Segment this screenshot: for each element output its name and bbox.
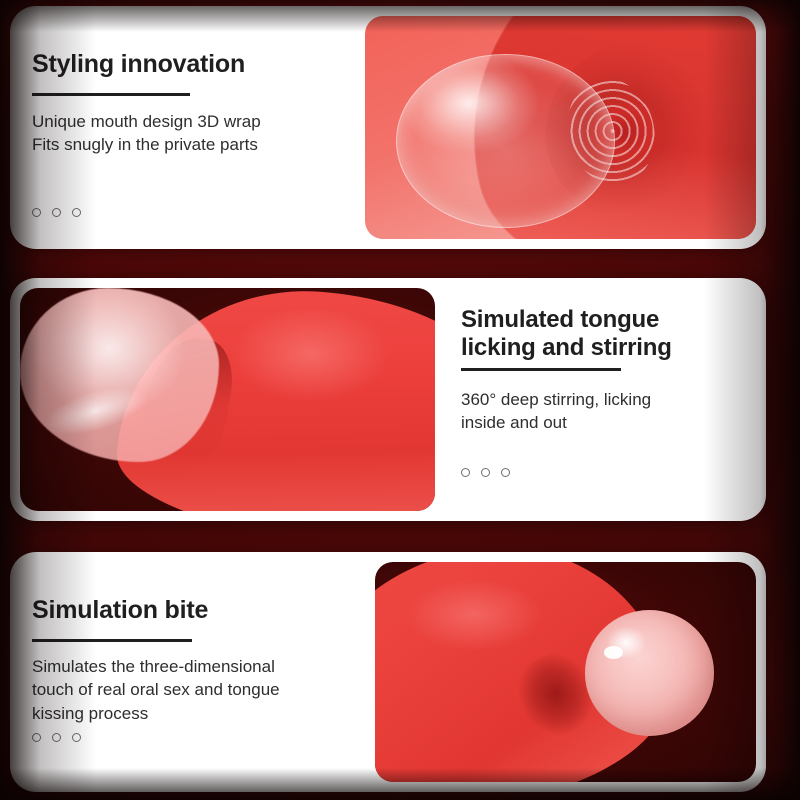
pagination-dots[interactable] bbox=[32, 208, 339, 231]
card-description: Unique mouth design 3D wrap Fits snugly … bbox=[32, 110, 339, 157]
title-underline bbox=[32, 639, 192, 642]
card-text-pane: Simulated tongue licking and stirring 36… bbox=[435, 278, 766, 521]
glass-sphere bbox=[396, 54, 615, 228]
card-description: Simulates the three-dimensional touch of… bbox=[32, 655, 349, 725]
feature-card-styling-innovation[interactable]: Styling innovation Unique mouth design 3… bbox=[10, 6, 766, 249]
card-text-pane: Simulation bite Simulates the three-dime… bbox=[10, 552, 375, 792]
title-underline bbox=[32, 93, 190, 96]
pink-sphere bbox=[585, 610, 715, 735]
pagination-dot[interactable] bbox=[501, 468, 510, 477]
pagination-dot[interactable] bbox=[72, 208, 81, 217]
title-underline bbox=[461, 368, 621, 371]
card-text-pane: Styling innovation Unique mouth design 3… bbox=[10, 6, 365, 249]
product-closeup-bite-with-pink-sphere bbox=[375, 562, 756, 782]
pagination-dot[interactable] bbox=[32, 208, 41, 217]
feature-card-simulation-bite[interactable]: Simulation bite Simulates the three-dime… bbox=[10, 552, 766, 792]
pagination-dots[interactable] bbox=[32, 733, 349, 774]
product-closeup-sphere-on-red-form bbox=[365, 16, 756, 239]
card-title: Simulated tongue licking and stirring bbox=[461, 306, 740, 362]
feature-card-simulated-tongue[interactable]: Simulated tongue licking and stirring 36… bbox=[10, 278, 766, 521]
card-description: 360° deep stirring, licking inside and o… bbox=[461, 388, 740, 435]
product-closeup-tongue-and-translucent-blob bbox=[20, 288, 435, 511]
pagination-dot[interactable] bbox=[52, 733, 61, 742]
pagination-dot[interactable] bbox=[32, 733, 41, 742]
card-title: Simulation bite bbox=[32, 596, 349, 625]
form-highlight bbox=[390, 575, 558, 663]
pagination-dot[interactable] bbox=[481, 468, 490, 477]
pagination-dot[interactable] bbox=[52, 208, 61, 217]
form-highlight bbox=[211, 306, 410, 426]
sphere-glint bbox=[604, 646, 623, 659]
page-background: Styling innovation Unique mouth design 3… bbox=[0, 0, 800, 800]
card-title: Styling innovation bbox=[32, 50, 339, 79]
pagination-dot[interactable] bbox=[72, 733, 81, 742]
pagination-dot[interactable] bbox=[461, 468, 470, 477]
pagination-dots[interactable] bbox=[461, 468, 740, 503]
